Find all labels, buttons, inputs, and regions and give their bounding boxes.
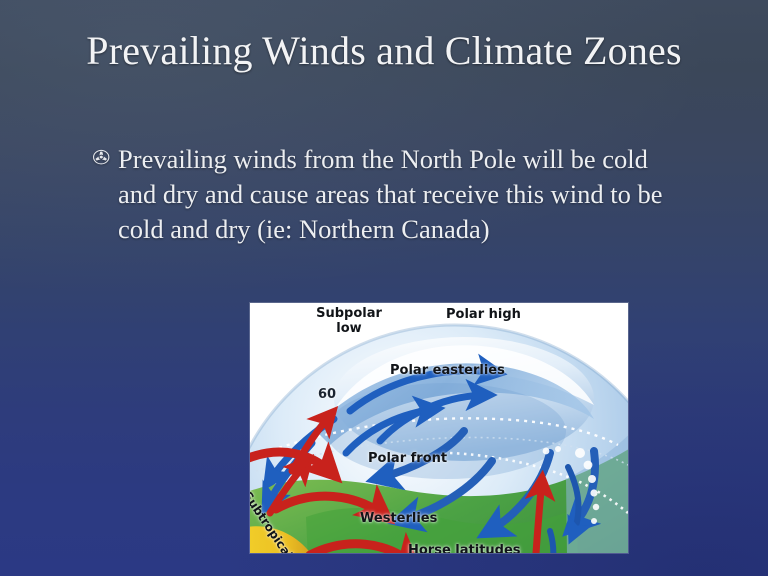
list-item: ✇ Prevailing winds from the North Pole w… — [92, 142, 692, 248]
page-title: Prevailing Winds and Climate Zones — [52, 28, 716, 73]
label-westerlies: Westerlies — [360, 511, 437, 526]
body-content: ✇ Prevailing winds from the North Pole w… — [92, 142, 692, 248]
label-polar-front: Polar front — [368, 451, 447, 466]
title-line-2: Zones — [583, 28, 682, 73]
bullet-wingding-icon: ✇ — [92, 142, 122, 175]
label-polar-easterlies: Polar easterlies — [390, 363, 505, 378]
slide-canvas: Prevailing Winds and Climate Zones ✇ Pre… — [0, 0, 768, 576]
globe-illustration — [250, 303, 628, 553]
list-item-text: Prevailing winds from the North Pole wil… — [118, 142, 692, 248]
label-subpolar-low: Subpolar low — [306, 307, 392, 337]
title-line-1: Prevailing Winds and Climate — [86, 28, 573, 73]
label-horse-latitudes: Horse latitudes — [408, 543, 521, 553]
diagram-canvas: Subpolar low Polar high Polar easterlies… — [250, 303, 628, 553]
label-latitude-60: 60 — [318, 387, 336, 402]
label-polar-high: Polar high — [446, 307, 521, 322]
wind-belts-diagram: Subpolar low Polar high Polar easterlies… — [250, 303, 628, 553]
